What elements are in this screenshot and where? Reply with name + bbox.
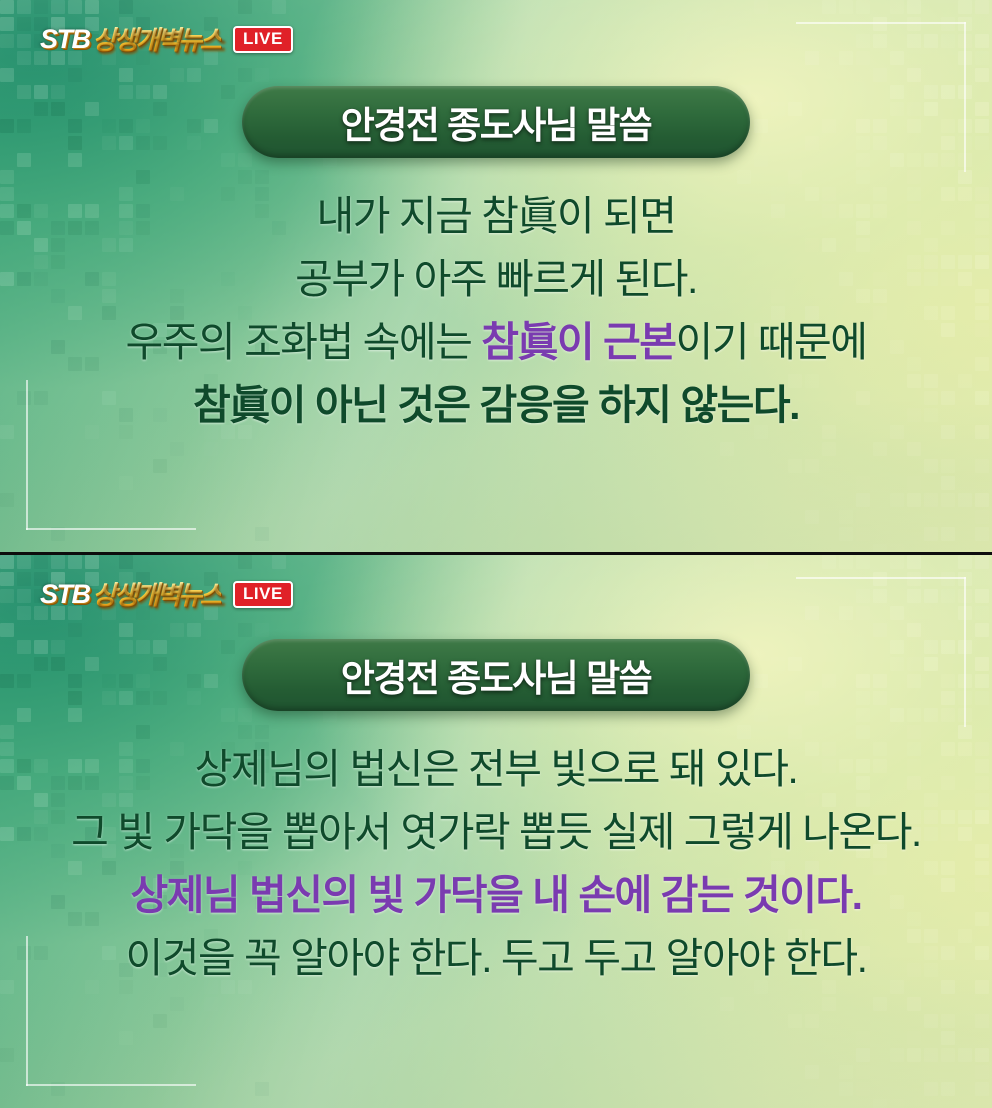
quote-text: 그 빛 가닥을 뽑아서 엿가락 뽑듯 실제 그렇게 나온다.: [71, 809, 921, 855]
channel-logo-bar: STB 상생개벽뉴스 LIVE: [40, 581, 293, 608]
quote-text: 공부가 아주 빠르게 된다.: [295, 256, 697, 302]
title-banner-2: 안경전 종도사님 말씀: [242, 639, 750, 711]
news-panel-1: STB 상생개벽뉴스 LIVE 안경전 종도사님 말씀 내가 지금 참眞이 되면…: [0, 0, 992, 552]
quote-line: 내가 지금 참眞이 되면: [22, 196, 970, 237]
title-banner-text: 안경전 종도사님 말씀: [341, 95, 651, 149]
quote-text: 이기 때문에: [675, 319, 866, 365]
title-banner-1: 안경전 종도사님 말씀: [242, 86, 750, 158]
live-badge: LIVE: [233, 581, 293, 607]
broadcast-screen: STB 상생개벽뉴스 LIVE 안경전 종도사님 말씀 내가 지금 참眞이 되면…: [0, 0, 992, 1108]
stb-logo-text: STB: [40, 26, 90, 53]
quote-block-2: 상제님의 법신은 전부 빛으로 돼 있다.그 빛 가닥을 뽑아서 엿가락 뽑듯 …: [0, 749, 992, 979]
quote-highlight: 참眞이 근본: [481, 319, 675, 365]
channel-logo-bar: STB 상생개벽뉴스 LIVE: [40, 26, 293, 53]
quote-line: 그 빛 가닥을 뽑아서 엿가락 뽑듯 실제 그렇게 나온다.: [22, 812, 970, 853]
corner-bracket-top-right: [796, 577, 966, 727]
network-name-korean: 상생개벽뉴스: [93, 582, 222, 608]
quote-text: 상제님의 법신은 전부 빛으로 돼 있다.: [195, 746, 798, 792]
news-panel-2: STB 상생개벽뉴스 LIVE 안경전 종도사님 말씀 상제님의 법신은 전부 …: [0, 552, 992, 1108]
quote-highlight: 상제님 법신의 빛 가닥을 내 손에 감는 것이다.: [130, 872, 861, 918]
network-name-korean: 상생개벽뉴스: [93, 27, 222, 53]
quote-line: 공부가 아주 빠르게 된다.: [22, 259, 970, 300]
quote-text: 이것을 꼭 알아야 한다. 두고 두고 알아야 한다.: [126, 935, 867, 981]
quote-line: 우주의 조화법 속에는 참眞이 근본이기 때문에: [22, 322, 970, 363]
quote-line: 상제님의 법신은 전부 빛으로 돼 있다.: [22, 749, 970, 790]
quote-line: 상제님 법신의 빛 가닥을 내 손에 감는 것이다.: [22, 875, 970, 916]
title-banner-text: 안경전 종도사님 말씀: [341, 648, 651, 702]
quote-text: 참眞이 아닌 것은 감응을 하지 않는다.: [193, 382, 799, 428]
stb-logo-text: STB: [40, 581, 90, 608]
live-badge: LIVE: [233, 26, 293, 52]
quote-block-1: 내가 지금 참眞이 되면공부가 아주 빠르게 된다.우주의 조화법 속에는 참眞…: [0, 196, 992, 426]
corner-bracket-top-right: [796, 22, 966, 172]
quote-line: 이것을 꼭 알아야 한다. 두고 두고 알아야 한다.: [22, 938, 970, 979]
quote-text: 내가 지금 참眞이 되면: [317, 193, 676, 239]
quote-line: 참眞이 아닌 것은 감응을 하지 않는다.: [22, 385, 970, 426]
quote-text: 우주의 조화법 속에는: [126, 319, 482, 365]
